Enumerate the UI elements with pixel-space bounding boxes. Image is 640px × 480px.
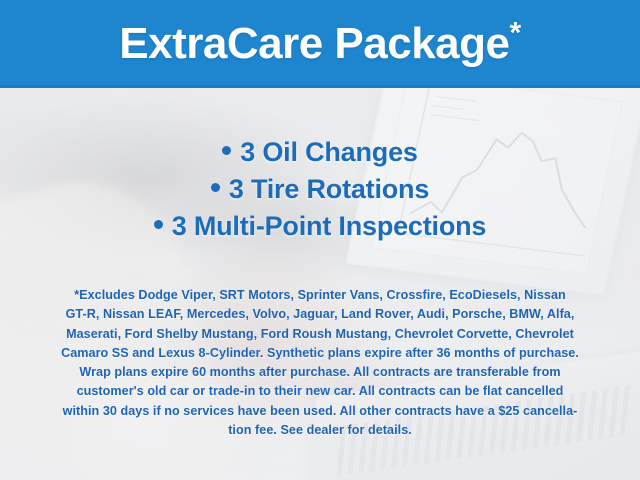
disclaimer-line: GT-R, Nissan LEAF, Mercedes, Volvo, Jagu… [28, 305, 612, 324]
disclaimer-line: *Excludes Dodge Viper, SRT Motors, Sprin… [28, 286, 612, 305]
header-banner: ExtraCare Package* [0, 0, 640, 88]
benefit-item-label: 3 Tire Rotations [229, 174, 429, 204]
benefit-item-tire-rotations: 3 Tire Rotations [18, 171, 622, 208]
disclaimer-line: tion fee. See dealer for details. [28, 421, 612, 440]
disclaimer-line: Camaro SS and Lexus 8-Cylinder. Syntheti… [28, 344, 612, 363]
disclaimer-line: customer's old car or trade-in to their … [28, 382, 612, 401]
extracare-package-promo-card: ExtraCare Package* 3 Oil Changes 3 Tire … [0, 0, 640, 480]
disclaimer-line: Maserati, Ford Shelby Mustang, Ford Rous… [28, 325, 612, 344]
page-title-text: ExtraCare Package [119, 19, 509, 68]
disclaimer-fine-print: *Excludes Dodge Viper, SRT Motors, Sprin… [28, 286, 612, 440]
benefit-item-multi-point-inspections: 3 Multi-Point Inspections [18, 208, 622, 245]
benefit-item-oil-changes: 3 Oil Changes [18, 134, 622, 171]
bullet-point-icon [222, 146, 231, 155]
page-title: ExtraCare Package* [103, 22, 536, 66]
benefits-list: 3 Oil Changes 3 Tire Rotations 3 Multi-P… [0, 134, 640, 245]
benefit-item-label: 3 Oil Changes [240, 137, 417, 167]
disclaimer-line: Wrap plans expire 60 months after purcha… [28, 363, 612, 382]
disclaimer-line: within 30 days if no services have been … [28, 402, 612, 421]
bullet-point-icon [154, 220, 163, 229]
benefit-item-label: 3 Multi-Point Inspections [172, 211, 487, 241]
bullet-point-icon [211, 183, 220, 192]
page-title-asterisk: * [510, 16, 521, 49]
